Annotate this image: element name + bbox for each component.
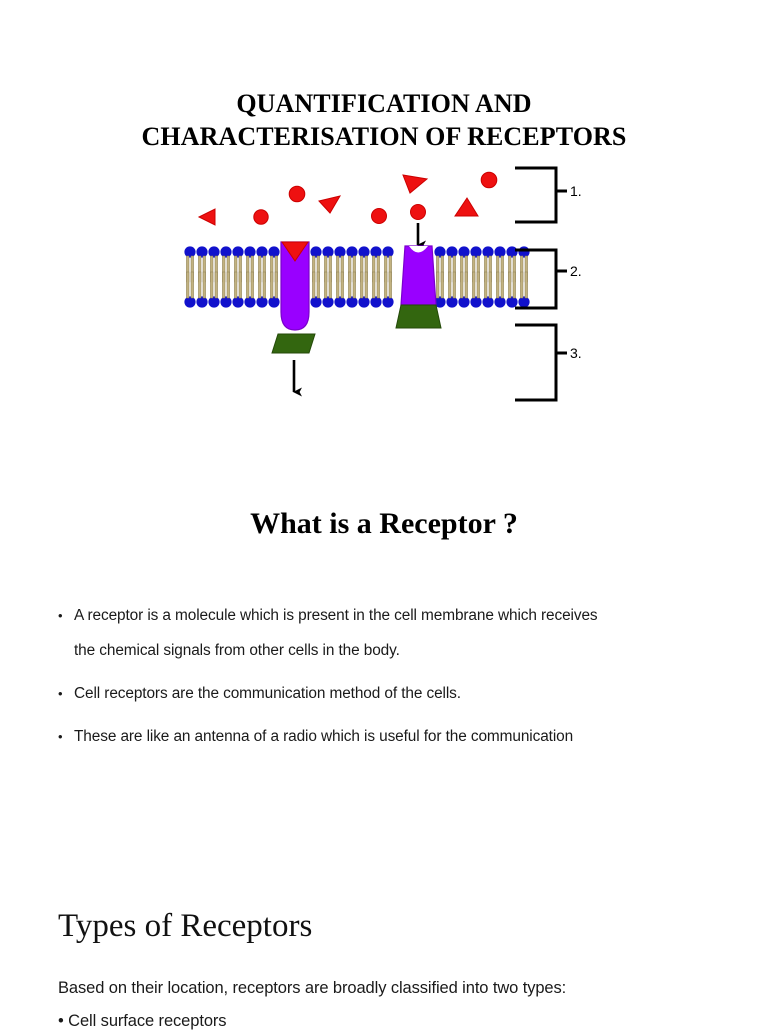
bullet-glyph: •	[58, 676, 62, 711]
page-title-line-1: QUANTIFICATION AND	[0, 88, 768, 121]
receptor-left-bound	[281, 242, 309, 330]
ligand-triangle-icon	[319, 196, 340, 213]
list-item-text: These are like an antenna of a radio whi…	[74, 728, 573, 745]
inner-leaflet	[184, 272, 529, 308]
ligand-circle-icon	[254, 210, 268, 224]
list-item: • A receptor is a molecule which is pres…	[56, 598, 716, 668]
second-messenger-parallelogram-left	[272, 334, 315, 353]
bracket-label-2: 2.	[570, 263, 582, 279]
phospholipid-bilayer	[184, 246, 529, 307]
receptor-right-channel	[396, 246, 441, 328]
cell-membrane-receptor-diagram: 1. 2. 3.	[0, 160, 768, 410]
ligand-triangle-icon	[199, 209, 215, 225]
spacer	[56, 668, 716, 676]
list-item: • Cell receptors are the communication m…	[56, 676, 716, 711]
page-title-line-2: CHARACTERISATION OF RECEPTORS	[0, 121, 768, 154]
ligand-circle-icon	[289, 186, 305, 202]
list-item-text: A receptor is a molecule which is presen…	[74, 607, 598, 624]
ligand-triangle-icon	[455, 198, 478, 216]
effector-domain-green	[396, 305, 441, 328]
bracket-3	[515, 325, 556, 400]
receptor-body	[401, 246, 436, 305]
list-item-text-continued: the chemical signals from other cells in…	[74, 633, 716, 668]
bracket-1	[515, 168, 556, 222]
list-item: • Cell surface receptors	[58, 1012, 226, 1031]
ligand-circle-icon	[372, 209, 387, 224]
list-item: • These are like an antenna of a radio w…	[56, 719, 716, 754]
bullet-glyph: •	[58, 719, 62, 754]
section-heading-what-is-a-receptor: What is a Receptor ?	[0, 507, 768, 541]
ligand-group-extracellular	[199, 172, 497, 225]
bracket-label-3: 3.	[570, 345, 582, 361]
types-intro-text: Based on their location, receptors are b…	[58, 979, 566, 998]
spacer	[56, 711, 716, 719]
ligand-triangle-icon	[403, 175, 427, 193]
ligand-circle-icon	[411, 205, 426, 220]
receptor-definition-bullet-list: • A receptor is a molecule which is pres…	[56, 598, 716, 754]
list-item-text: Cell receptors are the communication met…	[74, 685, 461, 702]
bullet-glyph: •	[58, 598, 62, 633]
bracket-label-1: 1.	[570, 183, 582, 199]
page-title: QUANTIFICATION AND CHARACTERISATION OF R…	[0, 88, 768, 154]
ligand-circle-icon	[481, 172, 497, 188]
section-heading-types-of-receptors: Types of Receptors	[58, 908, 312, 945]
